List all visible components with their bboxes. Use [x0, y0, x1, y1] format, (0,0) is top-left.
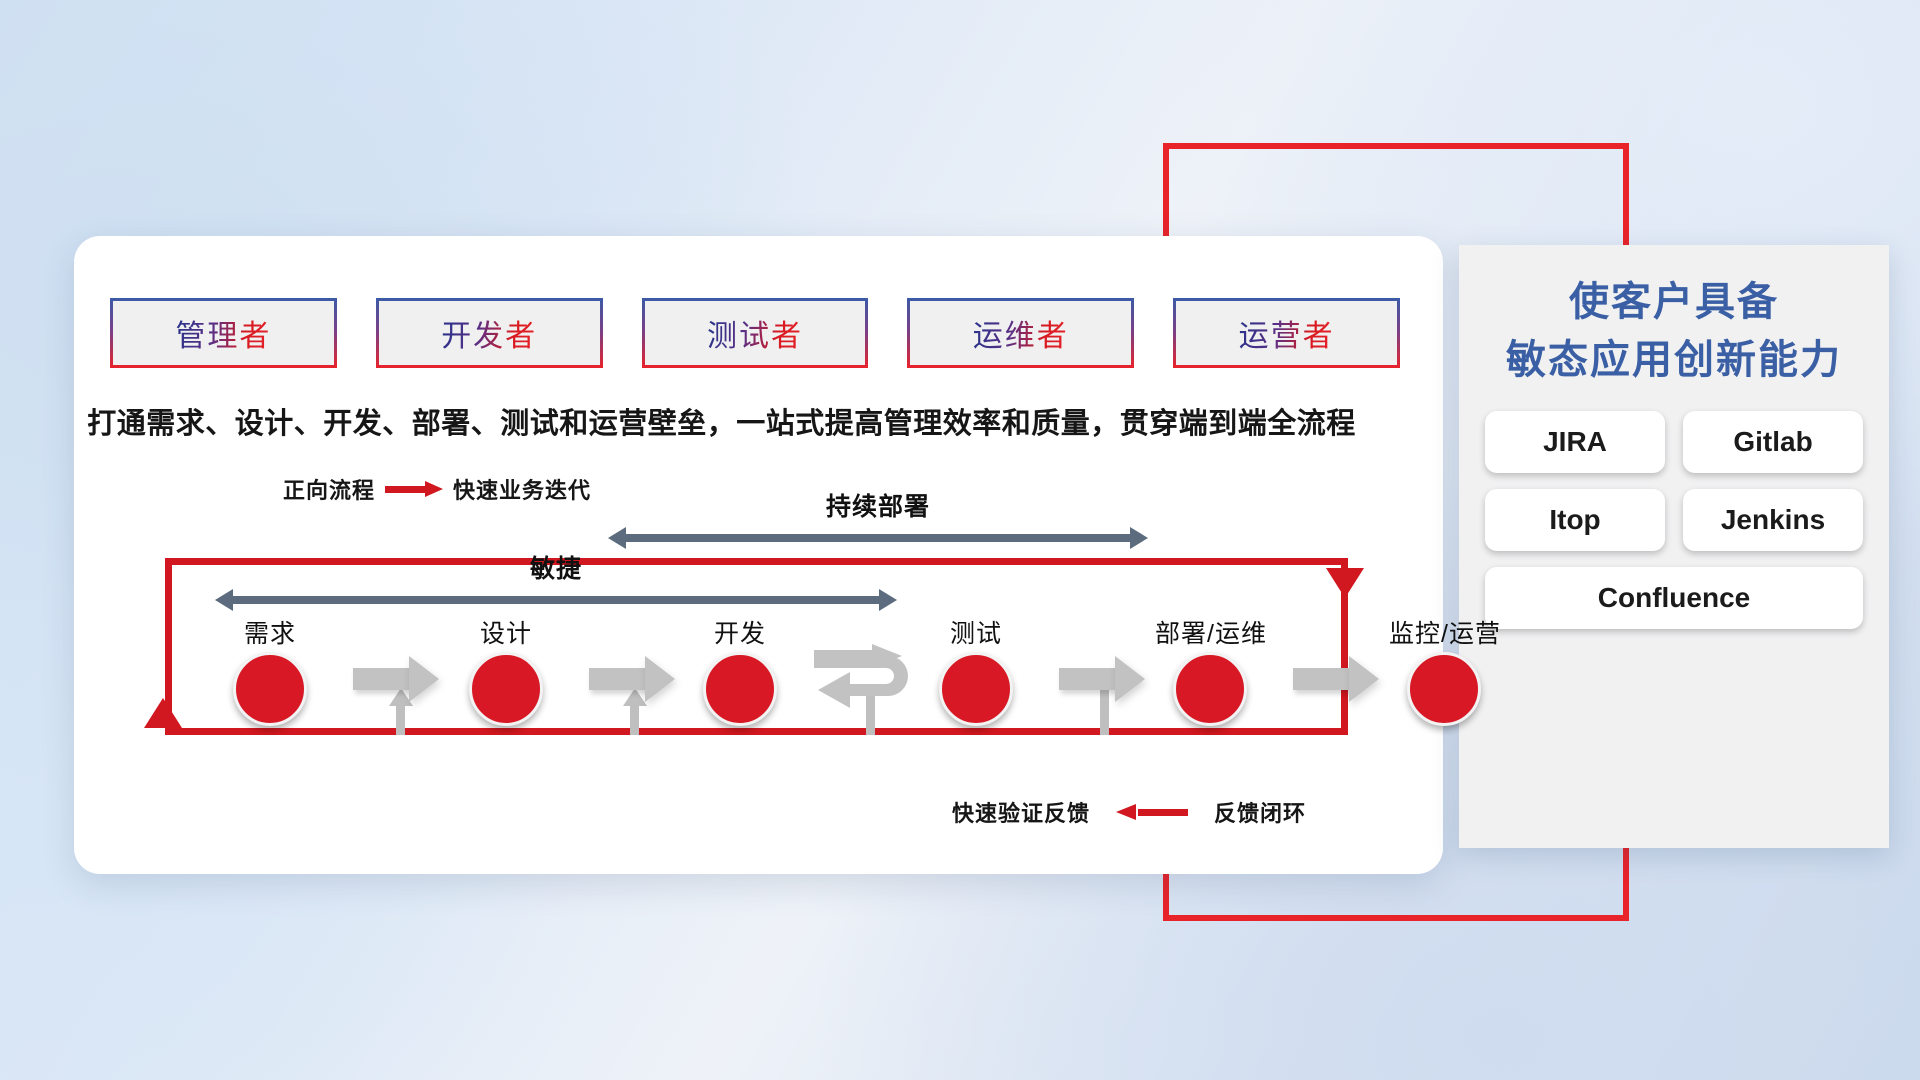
- pipeline-stage-group: 需求 设计 开发 测试: [110, 614, 1400, 744]
- pipeline-stage-label: 开发: [685, 614, 795, 650]
- span-arrow-label: 敏捷: [215, 549, 897, 585]
- tool-chip-jira[interactable]: JIRA: [1485, 411, 1665, 473]
- arrow-head-right-icon: [879, 589, 897, 611]
- u-turn-loop-arrow-icon: [810, 644, 926, 720]
- role-box-tester[interactable]: 测试者: [642, 298, 869, 368]
- pipeline-stage-develop[interactable]: 开发: [685, 614, 795, 726]
- arrow-shaft: [624, 534, 1132, 542]
- slide-canvas: 管理者 开发者 测试者 运维者 运营者 打通需求、设计、开发、部署、测试和运营壁…: [0, 0, 1920, 1080]
- arrow-head: [1115, 656, 1145, 702]
- value-panel: 使客户具备 敏态应用创新能力 JIRA Gitlab Itop Jenkins …: [1459, 245, 1889, 848]
- pipeline-stage-test[interactable]: 测试: [921, 614, 1031, 726]
- role-label: 运营者: [1239, 311, 1335, 355]
- arrow-right-gray-icon: [1293, 656, 1379, 702]
- legend-forward-right-label: 快速业务迭代: [453, 473, 591, 505]
- arrow-shaft: [1059, 668, 1117, 690]
- legend-feedback-right-label: 反馈闭环: [1214, 796, 1306, 828]
- pipeline-stage-monitor-operate[interactable]: 监控/运营: [1389, 614, 1499, 726]
- pipeline-loop-arrow-down-icon: [1326, 568, 1364, 598]
- pipeline-stage-label: 设计: [451, 614, 561, 650]
- pipeline-stage-dot: [1407, 652, 1481, 726]
- pipeline-stage-design[interactable]: 设计: [451, 614, 561, 726]
- arrow-head: [409, 656, 439, 702]
- panel-title: 使客户具备 敏态应用创新能力: [1459, 245, 1889, 389]
- tool-chip-gitlab[interactable]: Gitlab: [1683, 411, 1863, 473]
- arrow-shaft: [353, 668, 411, 690]
- tool-chip-jenkins[interactable]: Jenkins: [1683, 489, 1863, 551]
- pipeline-stage-dot: [233, 652, 307, 726]
- arrow-head: [645, 656, 675, 702]
- role-label: 运维者: [973, 311, 1069, 355]
- arrow-right-red-icon: [385, 481, 443, 497]
- description-text: 打通需求、设计、开发、部署、测试和运营壁垒，一站式提高管理效率和质量，贯穿端到端…: [0, 400, 1443, 442]
- panel-title-line1: 使客户具备: [1459, 273, 1889, 331]
- legend-feedback-loop: 快速验证反馈 反馈闭环: [952, 796, 1306, 828]
- arrow-shaft: [589, 668, 647, 690]
- role-box-ops[interactable]: 运维者: [907, 298, 1134, 368]
- tool-chip-confluence[interactable]: Confluence: [1485, 567, 1863, 629]
- pipeline-stage-dot: [703, 652, 777, 726]
- pipeline-stage-label: 监控/运营: [1389, 614, 1499, 650]
- arrow-right-gray-icon: [1059, 656, 1145, 702]
- pipeline-stage-deploy-ops[interactable]: 部署/运维: [1155, 614, 1265, 726]
- red-bracket-frame-bottom: [1163, 915, 1629, 921]
- pipeline-stage-label: 测试: [921, 614, 1031, 650]
- role-box-developer[interactable]: 开发者: [376, 298, 603, 368]
- arrow-shaft: [231, 596, 881, 604]
- pipeline-stage-dot: [939, 652, 1013, 726]
- arrow-right-gray-icon: [589, 656, 675, 702]
- panel-title-line2: 敏态应用创新能力: [1459, 331, 1889, 389]
- pipeline-stage-dot: [1173, 652, 1247, 726]
- pipeline-stage-dot: [469, 652, 543, 726]
- span-arrow-continuous-deployment: 持续部署: [608, 527, 1148, 549]
- pipeline-stage-requirements[interactable]: 需求: [215, 614, 325, 726]
- role-label: 管理者: [175, 311, 271, 355]
- arrow-left-red-icon: [1116, 804, 1188, 820]
- tool-chip-itop[interactable]: Itop: [1485, 489, 1665, 551]
- role-box-operator[interactable]: 运营者: [1173, 298, 1400, 368]
- legend-feedback-left-label: 快速验证反馈: [952, 796, 1090, 828]
- role-box-group: 管理者 开发者 测试者 运维者 运营者: [110, 298, 1400, 368]
- arrow-shaft: [1293, 668, 1351, 690]
- span-arrow-label: 持续部署: [608, 487, 1148, 523]
- legend-forward-left-label: 正向流程: [283, 473, 375, 505]
- tool-chip-group: JIRA Gitlab Itop Jenkins Confluence: [1459, 411, 1889, 629]
- arrow-head-right-icon: [1130, 527, 1148, 549]
- arrow-right-gray-icon: [353, 656, 439, 702]
- span-arrow-agile: 敏捷: [215, 589, 897, 611]
- pipeline-stage-label: 需求: [215, 614, 325, 650]
- role-box-manager[interactable]: 管理者: [110, 298, 337, 368]
- role-label: 测试者: [707, 311, 803, 355]
- arrow-head: [1349, 656, 1379, 702]
- pipeline-stage-label: 部署/运维: [1155, 614, 1265, 650]
- role-label: 开发者: [441, 311, 537, 355]
- legend-forward-flow: 正向流程 快速业务迭代: [283, 473, 591, 505]
